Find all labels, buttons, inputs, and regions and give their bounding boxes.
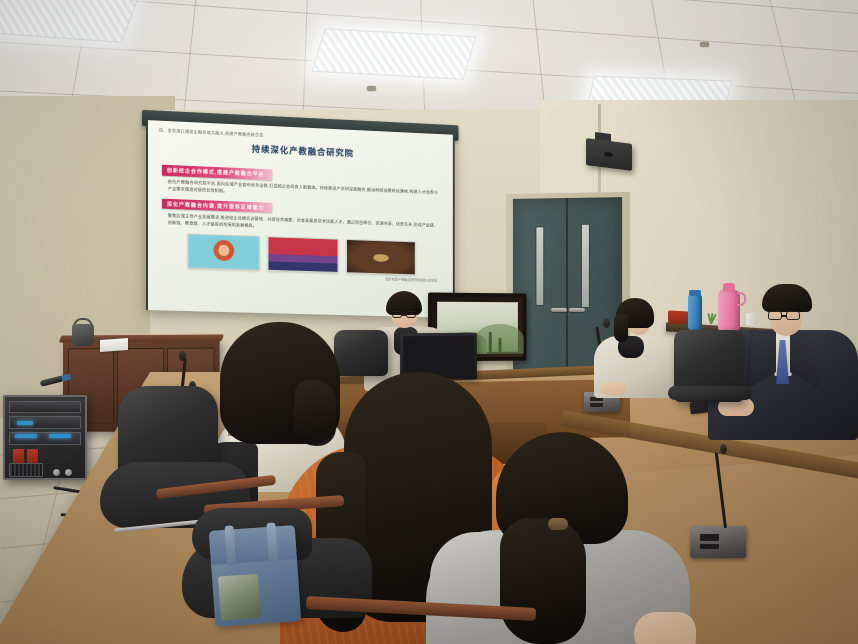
small-plant <box>706 302 716 324</box>
rack-led-display-2 <box>49 434 71 438</box>
cream-jacket-hand <box>600 382 626 395</box>
rack-unit-1[interactable] <box>9 401 81 413</box>
rack-knob-2[interactable] <box>65 469 72 476</box>
rack-led-display-1 <box>15 434 37 438</box>
door-window-left <box>535 226 544 306</box>
door-handle-right[interactable] <box>569 308 585 312</box>
projection-screen[interactable]: 四、多举措打通校企融合堵点痛点,构建产教融合新生态 持续深化产教融合研究院 创新… <box>146 120 455 318</box>
name-card <box>100 338 128 352</box>
gray-hoodie-ponytail <box>500 518 586 644</box>
suit-glasses-left <box>768 311 782 320</box>
presentation-slide: 四、多举措打通校企融合堵点痛点,构建产教融合新生态 持续深化产教融合研究院 创新… <box>148 120 453 318</box>
slide-paragraph-2: 聚焦区域主导产业发展需求,推进校企共建实训基地、共研技术难题、共育高素质技术技能… <box>159 211 443 236</box>
denim-handbag[interactable] <box>209 525 301 627</box>
electric-kettle <box>72 324 94 346</box>
presenter-glasses-right <box>406 311 416 318</box>
bag-flap <box>209 525 297 565</box>
cream-jacket-hair-side <box>614 314 628 342</box>
rack-vent-panel <box>9 463 43 477</box>
slide-thumbnail-3 <box>346 239 416 275</box>
presenter-glasses <box>392 311 402 318</box>
suit-glasses-bridge <box>782 315 786 317</box>
door-window-right <box>581 224 590 308</box>
rack-knob-1[interactable] <box>53 469 60 476</box>
smoke-detector-left <box>367 86 376 91</box>
bag-patch <box>218 574 261 621</box>
rack-led-display-3 <box>17 421 33 425</box>
laptop-screen <box>403 336 474 377</box>
slide-thumbnail-row <box>159 233 443 277</box>
presenter-glasses-bridge <box>402 314 406 316</box>
hair-tie <box>548 518 568 530</box>
slide-thumbnail-1 <box>188 234 260 271</box>
gray-hoodie-hand <box>634 612 696 644</box>
ceiling-light-panel-center <box>311 28 476 79</box>
smoke-detector-right <box>700 42 709 47</box>
door-handle-left[interactable] <box>551 308 567 312</box>
wall-mounted-speaker <box>586 138 632 171</box>
blue-bottle-cap <box>689 290 701 296</box>
door-center-seam <box>566 198 568 388</box>
white-top-hair-strand <box>294 380 336 446</box>
conference-room-photo: 四、多举措打通校企融合堵点痛点,构建产教融合新生态 持续深化产教融合研究院 创新… <box>0 0 858 644</box>
slide-section-chip-2: 深化产教融合内涵,提升服务区域能力 <box>162 199 272 213</box>
suit-hair <box>762 284 812 312</box>
audio-equipment-rack[interactable] <box>3 395 87 480</box>
white-cup <box>746 313 757 326</box>
blue-water-bottle <box>688 294 702 330</box>
screen-surface: 四、多举措打通校企融合堵点痛点,构建产教融合新生态 持续深化产教融合研究院 创新… <box>146 120 455 318</box>
pink-thermos-cap <box>723 283 735 291</box>
suit-glasses-right <box>786 311 800 320</box>
slide-thumbnail-2 <box>268 236 339 273</box>
